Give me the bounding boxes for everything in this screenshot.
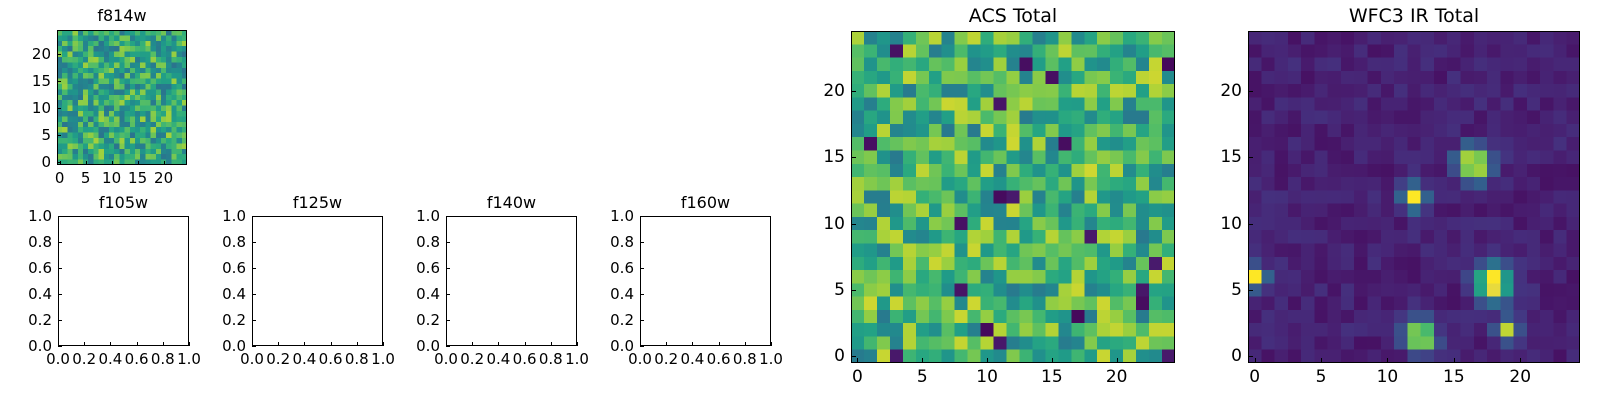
x-tick (1520, 358, 1521, 363)
y-tick (1248, 91, 1253, 92)
plot-area (446, 216, 577, 346)
y-tick-label: 0 (785, 346, 845, 366)
x-tick-label: 15 (1443, 367, 1465, 387)
y-tick-label: 0.8 (186, 233, 246, 251)
y-tick-label: 0.6 (380, 259, 440, 277)
x-tick (163, 342, 164, 346)
x-tick-label: 0.8 (539, 350, 563, 368)
y-tick (58, 294, 62, 295)
x-tick (498, 342, 499, 346)
y-tick-label: 0.4 (0, 285, 52, 303)
y-tick-label: 15 (0, 72, 51, 90)
x-tick-label: 10 (976, 367, 998, 387)
plot-area (640, 216, 771, 346)
panel-title-f105w: f105w (58, 193, 189, 212)
x-tick-label: 5 (917, 367, 928, 387)
y-tick-label: 0.0 (574, 337, 634, 355)
panel-f160w (640, 216, 771, 346)
y-tick-label: 20 (785, 81, 845, 101)
y-tick (851, 356, 856, 357)
y-tick (640, 346, 644, 347)
x-tick-label: 0.6 (125, 350, 149, 368)
x-tick-label: 0 (1249, 367, 1260, 387)
panel-f140w (446, 216, 577, 346)
y-tick (252, 346, 256, 347)
panel-f814w (57, 30, 187, 165)
x-tick-label: 0.4 (486, 350, 510, 368)
y-tick-label: 15 (785, 147, 845, 167)
x-tick (771, 342, 772, 346)
x-tick-label: 0.8 (733, 350, 757, 368)
y-tick-label: 1.0 (574, 207, 634, 225)
y-tick-label: 15 (1182, 147, 1242, 167)
y-tick (252, 268, 256, 269)
y-tick (57, 81, 61, 82)
y-tick (851, 224, 856, 225)
y-tick (1248, 224, 1253, 225)
x-tick-label: 20 (1106, 367, 1128, 387)
x-tick-label: 0.2 (266, 350, 290, 368)
heatmap-f814w (57, 30, 187, 165)
y-tick-label: 10 (0, 99, 51, 117)
x-tick-label: 1.0 (759, 350, 783, 368)
y-tick-label: 0.4 (186, 285, 246, 303)
y-tick-label: 0.6 (186, 259, 246, 277)
y-tick (851, 157, 856, 158)
y-tick (640, 268, 644, 269)
x-tick-label: 0.6 (513, 350, 537, 368)
y-tick-label: 0 (1182, 346, 1242, 366)
y-tick-label: 0.0 (0, 337, 52, 355)
x-tick (1454, 358, 1455, 363)
x-tick (331, 342, 332, 346)
x-tick-label: 0.4 (680, 350, 704, 368)
x-tick (857, 358, 858, 363)
y-tick (446, 320, 450, 321)
x-tick-label: 0.8 (345, 350, 369, 368)
y-tick (252, 320, 256, 321)
x-tick (138, 161, 139, 165)
y-tick-label: 0.2 (574, 311, 634, 329)
x-tick (745, 342, 746, 346)
y-tick-label: 1.0 (186, 207, 246, 225)
y-tick-label: 1.0 (0, 207, 52, 225)
y-tick (1248, 157, 1253, 158)
x-tick-label: 0.4 (98, 350, 122, 368)
x-tick (472, 342, 473, 346)
x-tick (987, 358, 988, 363)
x-tick (137, 342, 138, 346)
x-tick (357, 342, 358, 346)
y-tick (1248, 356, 1253, 357)
y-tick-label: 0.2 (380, 311, 440, 329)
x-tick-label: 0.8 (151, 350, 175, 368)
y-tick (252, 294, 256, 295)
x-tick-label: 15 (1041, 367, 1063, 387)
x-tick-label: 0 (852, 367, 863, 387)
x-tick-label: 15 (128, 169, 147, 187)
x-tick-label: 5 (81, 169, 91, 187)
y-tick-label: 0.4 (574, 285, 634, 303)
x-tick-label: 0.6 (319, 350, 343, 368)
x-tick (112, 161, 113, 165)
y-tick (446, 242, 450, 243)
heatmap-acs-total (851, 31, 1175, 363)
y-tick (1248, 290, 1253, 291)
y-tick (851, 290, 856, 291)
x-tick (1117, 358, 1118, 363)
y-tick-label: 10 (1182, 214, 1242, 234)
panel-title-acs-total: ACS Total (851, 5, 1175, 27)
x-tick-label: 20 (1509, 367, 1531, 387)
x-tick (719, 342, 720, 346)
y-tick-label: 0.2 (186, 311, 246, 329)
x-tick (110, 342, 111, 346)
y-tick (640, 320, 644, 321)
y-tick-label: 0.8 (574, 233, 634, 251)
x-tick-label: 20 (154, 169, 173, 187)
x-tick-label: 0 (55, 169, 65, 187)
panel-wfc3-ir-total (1248, 31, 1580, 363)
y-tick (640, 216, 644, 217)
y-tick-label: 10 (785, 214, 845, 234)
y-tick-label: 0.8 (0, 233, 52, 251)
y-tick-label: 0.6 (574, 259, 634, 277)
panel-title-f140w: f140w (446, 193, 577, 212)
y-tick-label: 0.2 (0, 311, 52, 329)
x-tick-label: 10 (102, 169, 121, 187)
y-tick-label: 0.0 (186, 337, 246, 355)
x-tick (1321, 358, 1322, 363)
y-tick-label: 0.0 (380, 337, 440, 355)
y-tick (851, 91, 856, 92)
x-tick (551, 342, 552, 346)
x-tick (278, 342, 279, 346)
panel-title-f160w: f160w (640, 193, 771, 212)
x-tick (304, 342, 305, 346)
y-tick-label: 5 (785, 280, 845, 300)
x-tick-label: 0.4 (292, 350, 316, 368)
y-tick (640, 242, 644, 243)
panel-title-wfc3-ir-total: WFC3 IR Total (1248, 5, 1580, 27)
y-tick (640, 294, 644, 295)
panel-acs-total (851, 31, 1175, 363)
y-tick (57, 162, 61, 163)
plot-area (58, 216, 189, 346)
x-tick (84, 342, 85, 346)
x-tick (922, 358, 923, 363)
panel-f105w (58, 216, 189, 346)
plot-area (252, 216, 383, 346)
y-tick (58, 346, 62, 347)
y-tick (252, 216, 256, 217)
y-tick-label: 20 (1182, 81, 1242, 101)
x-tick (164, 161, 165, 165)
y-tick (252, 242, 256, 243)
y-tick-label: 20 (0, 45, 51, 63)
x-tick-label: 0.2 (460, 350, 484, 368)
y-tick (57, 108, 61, 109)
y-tick (58, 242, 62, 243)
x-tick (1387, 358, 1388, 363)
x-tick-label: 5 (1316, 367, 1327, 387)
y-tick (446, 346, 450, 347)
y-tick-label: 5 (0, 126, 51, 144)
x-tick (666, 342, 667, 346)
y-tick-label: 0.8 (380, 233, 440, 251)
y-tick (58, 320, 62, 321)
x-tick-label: 0.6 (707, 350, 731, 368)
y-tick (57, 54, 61, 55)
x-tick (86, 161, 87, 165)
heatmap-wfc3-ir-total (1248, 31, 1580, 363)
x-tick (1052, 358, 1053, 363)
y-tick-label: 5 (1182, 280, 1242, 300)
x-tick (692, 342, 693, 346)
x-tick-label: 0.2 (72, 350, 96, 368)
x-tick (525, 342, 526, 346)
y-tick-label: 0.6 (0, 259, 52, 277)
y-tick (446, 216, 450, 217)
y-tick (57, 135, 61, 136)
panel-title-f814w: f814w (57, 6, 187, 25)
x-tick-label: 10 (1377, 367, 1399, 387)
x-tick-label: 0.2 (654, 350, 678, 368)
y-tick-label: 0 (0, 153, 51, 171)
y-tick (446, 294, 450, 295)
y-tick (58, 216, 62, 217)
y-tick (446, 268, 450, 269)
y-tick-label: 1.0 (380, 207, 440, 225)
panel-f125w (252, 216, 383, 346)
y-tick (58, 268, 62, 269)
y-tick-label: 0.4 (380, 285, 440, 303)
panel-title-f125w: f125w (252, 193, 383, 212)
x-tick (1255, 358, 1256, 363)
